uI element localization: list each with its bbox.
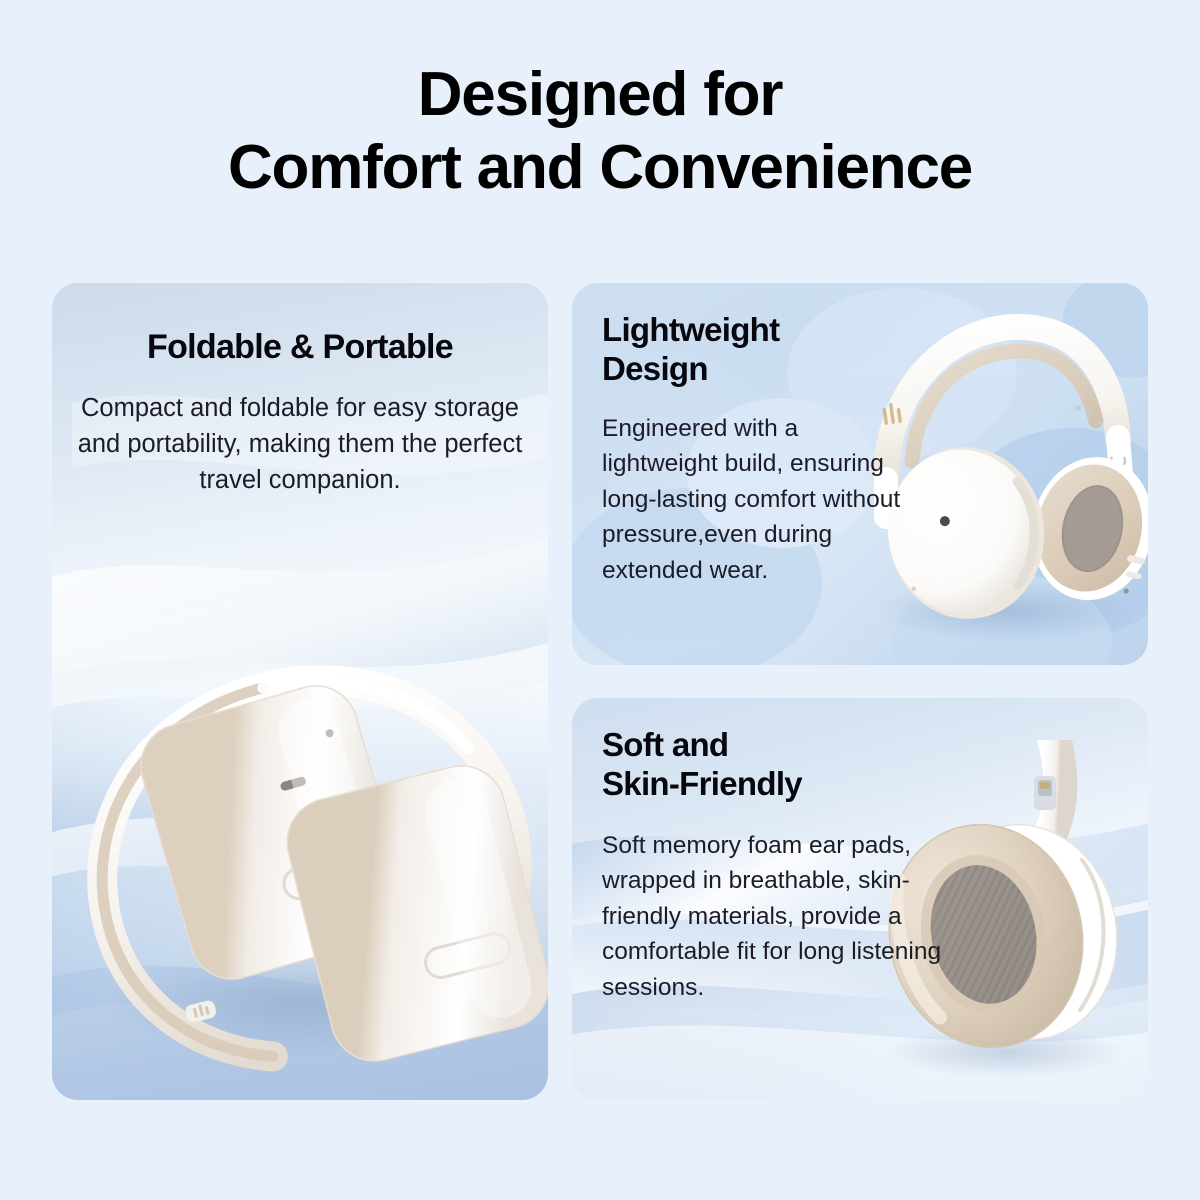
card-text-lightweight-design: Lightweight Design Engineered with a lig…	[602, 311, 912, 588]
feature-card-lightweight-design[interactable]: Lightweight Design Engineered with a lig…	[572, 283, 1148, 665]
feature-card-foldable-portable[interactable]: Foldable & Portable Compact and foldable…	[52, 283, 548, 1100]
card-text-foldable-portable: Foldable & Portable Compact and foldable…	[52, 327, 548, 498]
card-heading-line-2: Design	[602, 350, 708, 387]
card-description: Compact and foldable for easy storage an…	[76, 390, 524, 499]
card-heading-line-2: Skin-Friendly	[602, 765, 802, 802]
card-description: Engineered with a lightweight build, ens…	[602, 411, 912, 589]
page-title: Designed for Comfort and Convenience	[0, 58, 1200, 204]
card-heading: Soft and Skin-Friendly	[602, 726, 942, 804]
page-title-line-1: Designed for	[0, 58, 1200, 131]
card-heading: Lightweight Design	[602, 311, 912, 389]
feature-card-grid: Foldable & Portable Compact and foldable…	[52, 283, 1148, 1100]
card-heading-line-1: Lightweight	[602, 311, 779, 348]
card-description: Soft memory foam ear pads, wrapped in br…	[602, 828, 942, 1006]
card-heading: Foldable & Portable	[76, 327, 524, 368]
feature-card-soft-skin-friendly[interactable]: Soft and Skin-Friendly Soft memory foam …	[572, 698, 1148, 1100]
page-title-line-2: Comfort and Convenience	[0, 131, 1200, 204]
card-text-soft-skin-friendly: Soft and Skin-Friendly Soft memory foam …	[602, 726, 942, 1005]
card-heading-line-1: Soft and	[602, 726, 728, 763]
